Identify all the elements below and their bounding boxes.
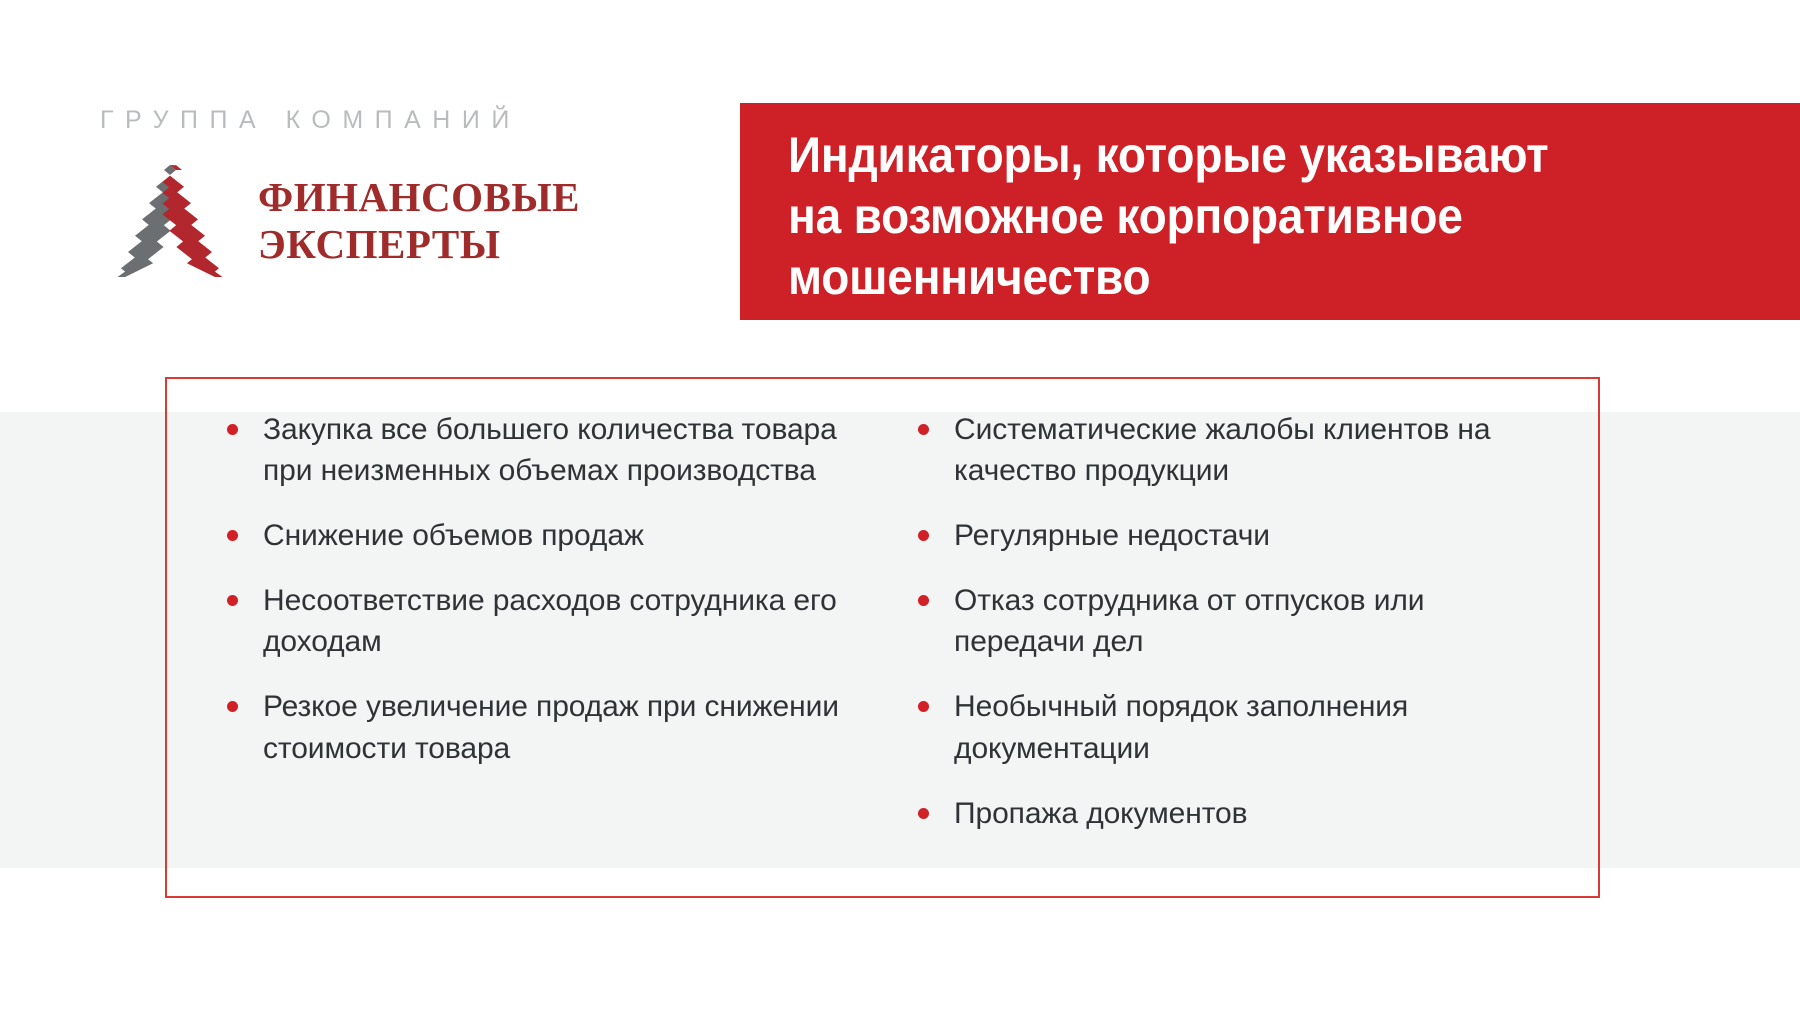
list-item: Регулярные недостачи (910, 515, 1558, 556)
brand-name: ФИНАНСОВЫЕ ЭКСПЕРТЫ (258, 174, 580, 267)
page-title: Индикаторы, которые указывают на возможн… (788, 125, 1691, 308)
indicators-column-left: Закупка все большего количества товара п… (167, 409, 870, 896)
list-item: Снижение объемов продаж (219, 515, 840, 556)
list-item: Необычный порядок заполнения документаци… (910, 686, 1558, 768)
slide-root: ГРУППА КОМПАНИЙ (0, 0, 1800, 1013)
bullet-list-right: Систематические жалобы клиентов на качес… (910, 409, 1558, 834)
brand-lockup: ФИНАНСОВЫЕ ЭКСПЕРТЫ (100, 165, 660, 277)
list-item: Пропажа документов (910, 793, 1558, 834)
title-banner: Индикаторы, которые указывают на возможн… (740, 103, 1800, 320)
bullet-list-left: Закупка все большего количества товара п… (219, 409, 840, 769)
list-item: Закупка все большего количества товара п… (219, 409, 840, 491)
indicators-columns: Закупка все большего количества товара п… (167, 379, 1598, 896)
brand-name-line-2: ЭКСПЕРТЫ (258, 221, 580, 268)
brand-eyebrow: ГРУППА КОМПАНИЙ (100, 108, 660, 133)
list-item: Отказ сотрудника от отпусков или передач… (910, 580, 1558, 662)
stepped-pyramid-icon (100, 165, 240, 277)
indicators-box: Закупка все большего количества товара п… (165, 377, 1600, 898)
list-item: Систематические жалобы клиентов на качес… (910, 409, 1558, 491)
list-item: Резкое увеличение продаж при снижении ст… (219, 686, 840, 768)
indicators-column-right: Систематические жалобы клиентов на качес… (870, 409, 1598, 896)
brand-name-line-1: ФИНАНСОВЫЕ (258, 174, 580, 220)
brand-block: ГРУППА КОМПАНИЙ (100, 108, 660, 277)
list-item: Несоответствие расходов сотрудника его д… (219, 580, 840, 662)
